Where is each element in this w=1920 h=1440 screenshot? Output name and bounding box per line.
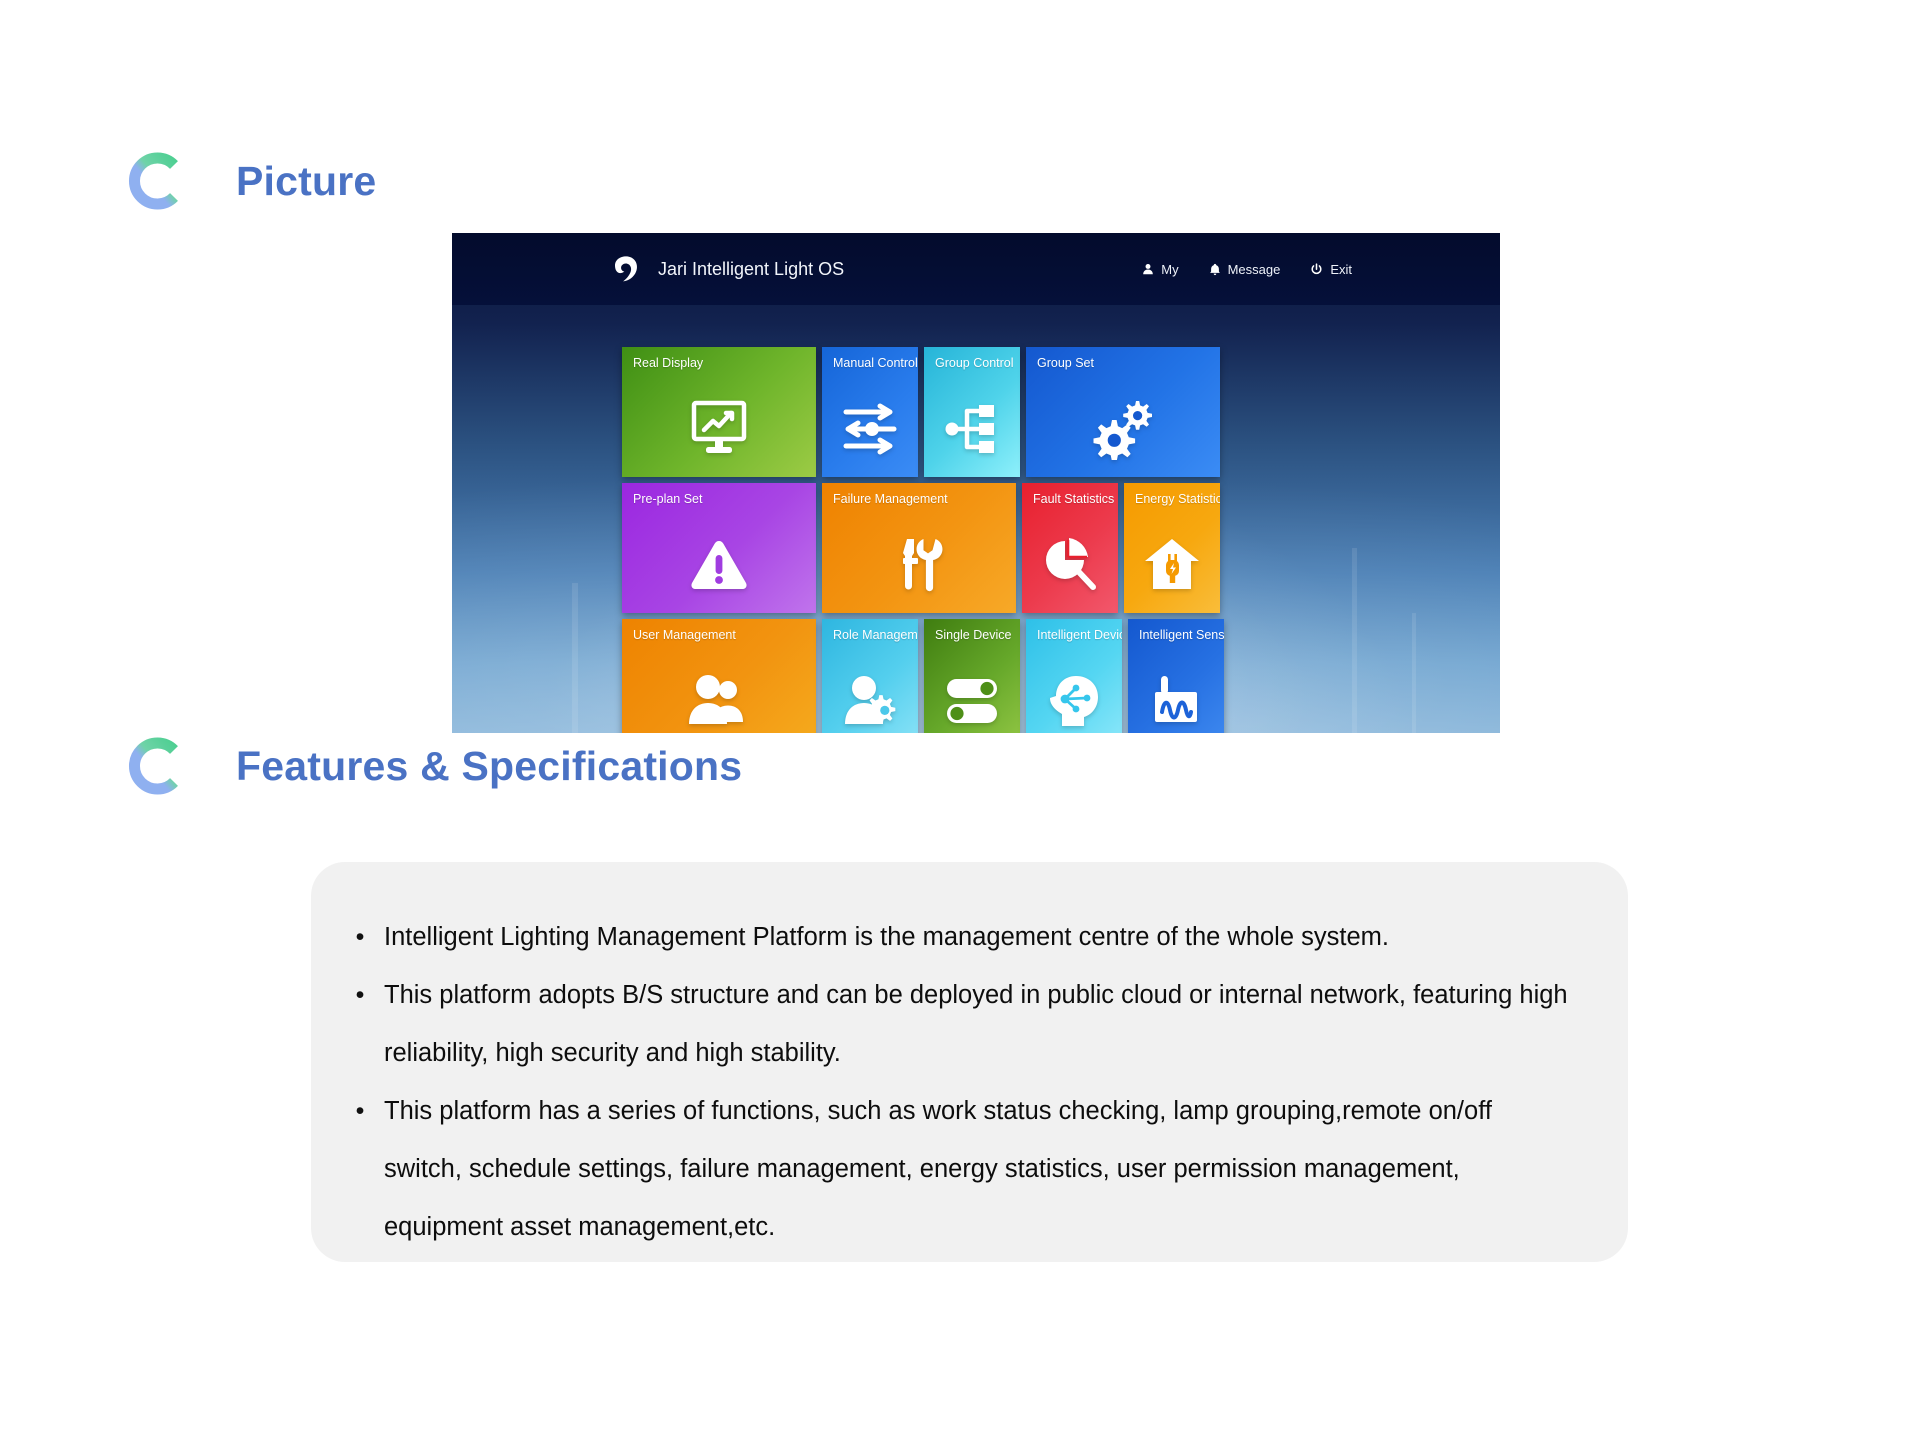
tile-user-management[interactable]: User Management (622, 619, 816, 733)
tile-row: Real Display Manual Cont (622, 347, 1224, 477)
monitor-chart-icon (622, 381, 816, 477)
bullet-marker: • (336, 1082, 384, 1140)
tile-group-set[interactable]: Group Set (1026, 347, 1220, 477)
tile-label: Fault Statistics (1033, 492, 1114, 506)
tile-energy-statistics[interactable]: Energy Statistics (1124, 483, 1220, 613)
app-brand-title: Jari Intelligent Light OS (658, 259, 844, 280)
app-brand[interactable]: Jari Intelligent Light OS (609, 253, 844, 285)
dashboard-body: Real Display Manual Cont (452, 305, 1500, 733)
tile-fault-statistics[interactable]: Fault Statistics (1022, 483, 1118, 613)
tile-label: Pre-plan Set (633, 492, 702, 506)
tile-label: User Management (633, 628, 736, 642)
brain-network-icon (1026, 653, 1122, 733)
c-ring-logo-icon (122, 735, 184, 797)
tile-label: Intelligent Device (1037, 628, 1122, 642)
tile-intelligent-sensor[interactable]: Intelligent Sensor (1128, 619, 1224, 733)
tile-row: Pre-plan Set Failure Management (622, 483, 1224, 613)
slide-root: Picture Jari Intelligent Light OS (0, 0, 1920, 1440)
picture-section-title: Picture (236, 158, 376, 205)
bell-icon (1209, 263, 1221, 276)
nav-item-my-label: My (1161, 262, 1178, 277)
tile-grid: Real Display Manual Cont (622, 347, 1224, 733)
tile-manual-control[interactable]: Manual Control (822, 347, 918, 477)
sitemap-icon (924, 381, 1020, 477)
nav-item-message-label: Message (1228, 262, 1281, 277)
list-item: • This platform adopts B/S structure and… (336, 966, 1568, 1082)
tile-label: Role Management (833, 628, 918, 642)
gears-icon (1026, 381, 1220, 477)
user-icon (1142, 263, 1154, 275)
users-icon (622, 653, 816, 733)
tile-label: Single Device (935, 628, 1011, 642)
features-section-heading: Features & Specifications (122, 735, 742, 797)
tile-label: Group Set (1037, 356, 1094, 370)
tile-label: Failure Management (833, 492, 948, 506)
user-gear-icon (822, 653, 918, 733)
bullet-marker: • (336, 966, 384, 1024)
list-item: • Intelligent Lighting Management Platfo… (336, 908, 1568, 966)
sensor-wave-icon (1128, 653, 1224, 733)
tile-single-device[interactable]: Single Device (924, 619, 1020, 733)
house-plug-icon (1124, 517, 1220, 613)
nav-item-exit-label: Exit (1330, 262, 1352, 277)
power-icon (1310, 263, 1323, 276)
bullet-marker: • (336, 908, 384, 966)
c-ring-logo-icon (122, 150, 184, 212)
app-header: Jari Intelligent Light OS My Message (452, 233, 1500, 305)
jari-swirl-logo-icon (609, 253, 641, 285)
toggles-icon (924, 653, 1020, 733)
tile-label: Real Display (633, 356, 703, 370)
sliders-icon (822, 381, 918, 477)
app-header-nav: My Message Exit (1142, 262, 1352, 277)
tile-label: Group Control (935, 356, 1014, 370)
features-section-title: Features & Specifications (236, 743, 742, 790)
features-bullet-list: • Intelligent Lighting Management Platfo… (336, 908, 1568, 1256)
tile-pre-plan-set[interactable]: Pre-plan Set (622, 483, 816, 613)
bullet-text: This platform adopts B/S structure and c… (384, 966, 1568, 1082)
picture-section-heading: Picture (122, 150, 376, 212)
tile-group-control[interactable]: Group Control (924, 347, 1020, 477)
tile-label: Intelligent Sensor (1139, 628, 1224, 642)
list-item: • This platform has a series of function… (336, 1082, 1568, 1256)
nav-item-message[interactable]: Message (1209, 262, 1281, 277)
nav-item-exit[interactable]: Exit (1310, 262, 1352, 277)
pie-search-icon (1022, 517, 1118, 613)
tile-real-display[interactable]: Real Display (622, 347, 816, 477)
tile-intelligent-device[interactable]: Intelligent Device (1026, 619, 1122, 733)
warning-triangle-icon (622, 517, 816, 613)
bullet-text: Intelligent Lighting Management Platform… (384, 908, 1389, 966)
tools-icon (822, 517, 1016, 613)
tile-role-management[interactable]: Role Management (822, 619, 918, 733)
dashboard-screenshot: Jari Intelligent Light OS My Message (452, 233, 1500, 733)
features-card: • Intelligent Lighting Management Platfo… (311, 862, 1628, 1262)
tile-label: Manual Control (833, 356, 918, 370)
nav-item-my[interactable]: My (1142, 262, 1178, 277)
tile-label: Energy Statistics (1135, 492, 1220, 506)
bullet-text: This platform has a series of functions,… (384, 1082, 1568, 1256)
tile-failure-management[interactable]: Failure Management (822, 483, 1016, 613)
tile-row: User Management (622, 619, 1224, 733)
